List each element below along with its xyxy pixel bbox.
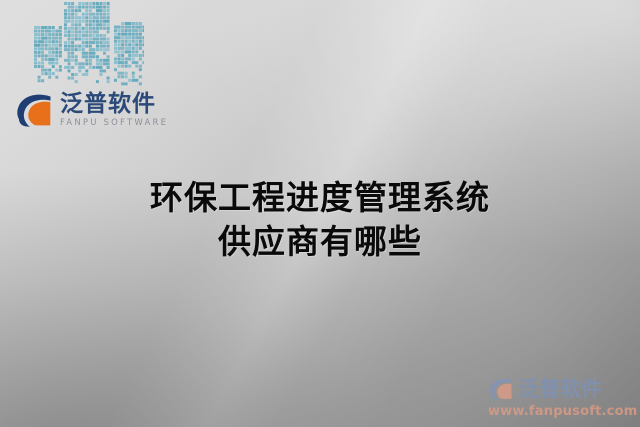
watermark-url: www.fanpusoft.com (488, 404, 630, 419)
fanpu-swoosh-watermark-icon (488, 376, 514, 402)
watermark: 泛普软件 www.fanpusoft.com (488, 376, 630, 419)
watermark-logo-row: 泛普软件 (488, 376, 630, 402)
brand-wordmark: 泛普软件 FANPU SOFTWARE (60, 93, 168, 128)
pixel-city-skyline-icon (26, 0, 144, 86)
brand-logo: 泛普软件 FANPU SOFTWARE (14, 88, 174, 132)
page-title: 环保工程进度管理系统 供应商有哪些 (0, 176, 640, 264)
promo-banner: 泛普软件 FANPU SOFTWARE 环保工程进度管理系统 供应商有哪些 泛普… (0, 0, 640, 427)
fanpu-swoosh-logo-icon (14, 90, 54, 130)
brand-name-en: FANPU SOFTWARE (60, 119, 168, 128)
page-title-line-1: 环保工程进度管理系统 (0, 176, 640, 220)
watermark-brand-name: 泛普软件 (518, 379, 602, 400)
brand-name-cn: 泛普软件 (60, 93, 168, 116)
page-title-line-2: 供应商有哪些 (0, 220, 640, 264)
